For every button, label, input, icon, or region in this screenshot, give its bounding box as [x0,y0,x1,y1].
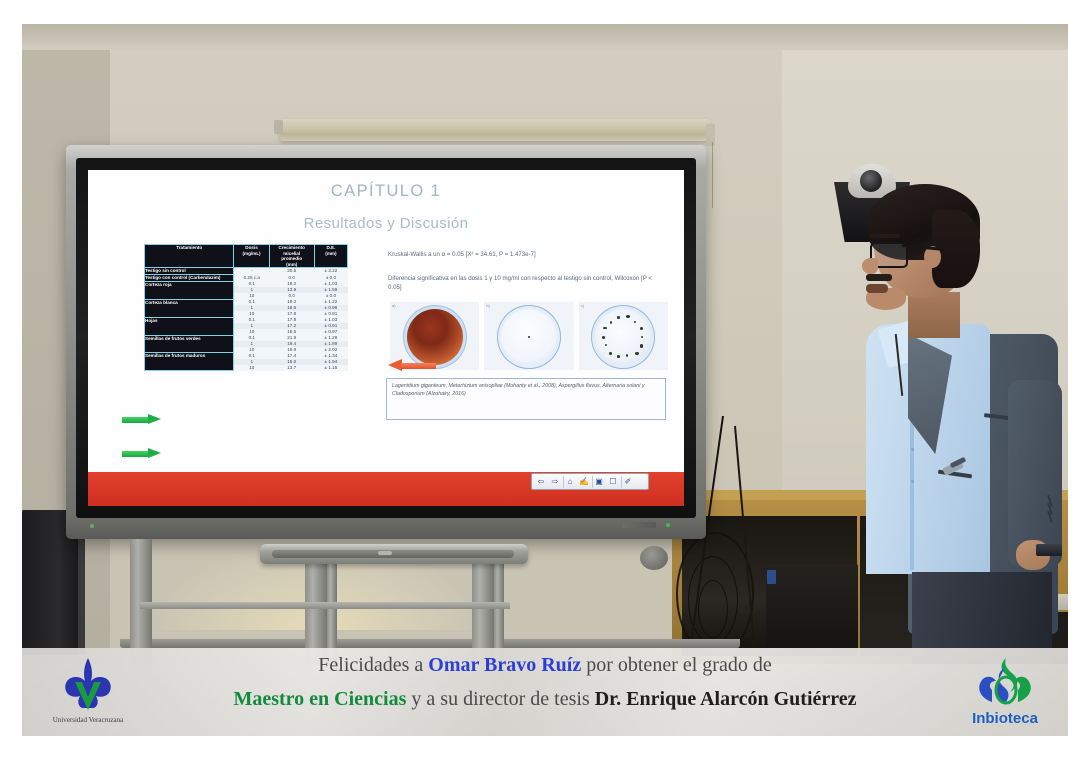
colony-speck [635,352,639,354]
rolled-window-blind [280,119,710,141]
petri-dish-image-a [407,309,463,365]
colony-speck [641,336,643,338]
presentation-clicker[interactable] [1036,544,1062,556]
degree-name: Maestro en Ciencias [233,688,406,710]
cell-growth: 0.0 [269,275,314,282]
table-row: Testigo sin control-20.5± 2.22 [145,268,348,275]
presenter-eyebrow [870,234,900,238]
caption-prefix: Felicidades a [318,654,428,676]
prev-arrow-icon[interactable]: ⇦ [535,476,547,488]
cell-treatment: Hojas [145,317,234,335]
colony-speck [626,354,628,357]
slide-title: CAPÍTULO 1 [88,182,684,201]
colony-speck [609,352,613,355]
shirt-button [911,480,914,483]
results-table: Tratamiento Dosis (mg/mL) Crecimiento mi… [144,244,348,371]
pen-tray-slot [272,550,514,558]
caption-middle: y a su director de tesis [406,688,594,710]
presenter [812,184,1068,664]
dish-label-c: c) [581,303,584,308]
note-icon[interactable]: ☐ [607,476,619,488]
arrow-head [148,414,161,424]
display-chin [120,639,740,648]
colony-speck [640,327,643,330]
blind-bracket-left [274,120,283,134]
arrow-head [148,448,161,458]
blind-cord [712,142,713,208]
home-icon[interactable]: ⌂ [563,476,576,488]
cell-treatment: Corteza roja [145,281,234,299]
director-name: Dr. Enrique Alarcón Gutiérrez [595,688,857,710]
presenter-sleeve [1008,380,1062,566]
dish-b-center-dot [528,336,530,338]
dish-label-a: a) [392,303,396,308]
green-arrow-semillas-verdes [122,448,162,459]
colony-speck [617,316,620,318]
table-header-row: Tratamiento Dosis (mg/mL) Crecimiento mi… [145,245,348,268]
petri-dish-b: b) [484,302,573,370]
green-arrow-hojas [122,414,162,425]
table-body: Testigo sin control-20.5± 2.22Testigo co… [145,268,348,371]
event-photo: CAPÍTULO 1 Resultados y Discusión Tratam… [22,24,1068,736]
caption-suffix: por obtener el grado de [581,654,771,676]
cell-dose: - [234,268,269,275]
screenshot-root: CAPÍTULO 1 Resultados y Discusión Tratam… [0,0,1090,760]
cell-sd: ± 2.22 [314,268,347,275]
arrow-shaft [122,451,150,457]
vga-connector [767,570,776,584]
cell-dose: 0.25 c.a [234,275,269,282]
th-de: D.E. (mm) [314,245,347,268]
caption-line-2: Maestro en Ciencias y a su director de t… [22,688,1068,711]
cell-treatment: Semillas de frutos verdes [145,335,234,353]
stat-wilcoxon: Diferencia significativa en las dosis 1 … [388,274,658,293]
table-head: Tratamiento Dosis (mg/mL) Crecimiento mi… [145,245,348,268]
uv-logo-icon [34,656,142,714]
cell-sd: ± 0.0 [314,275,347,282]
cell-sd: ± 1.15 [314,365,347,371]
cell-treatment: Semillas de frutos maduros [145,353,234,371]
blind-bracket-right [706,124,715,146]
arrow-head [388,359,402,371]
display-screen[interactable]: CAPÍTULO 1 Resultados y Discusión Tratam… [88,170,684,506]
graduate-name: Omar Bravo Ruíz [428,654,581,676]
pen-icon[interactable]: ✍ [578,476,590,488]
cable-wall-plate [640,546,668,570]
th-tratamiento: Tratamiento [145,245,234,268]
colony-speck [605,344,607,346]
stand-cross-rail [140,602,510,609]
presentation-toolbar[interactable]: ⇦ ⇨ ⌂ ✍ ▣ ☐ ✐ [531,473,649,490]
presentation-slide: CAPÍTULO 1 Resultados y Discusión Tratam… [88,170,684,506]
caption-bar: Felicidades a Omar Bravo Ruíz por obtene… [22,648,1068,736]
display-brand-mark [622,522,656,528]
colony-speck [617,355,620,357]
orange-arrow-left-icon [388,359,436,372]
next-arrow-icon[interactable]: ⇨ [549,476,561,488]
shirt-button [911,448,914,451]
citation-text: Lagenidium giganteum, Metarhizium anisop… [392,383,660,398]
inbioteca-logo-text: Inbioteca [950,710,1060,727]
petri-dish-c: c) [579,302,668,370]
petri-dish-image-b [501,309,557,365]
uv-logo-caption: Universidad Veracruzana [34,716,142,724]
highlighter-icon[interactable]: ✐ [621,476,634,488]
colony-speck [610,321,612,324]
colony-speck [626,315,630,318]
cell-dose: 10 [234,365,269,371]
cell-treatment: Testigo sin control [145,268,234,275]
stat-kruskal-wallis: Kruskal-Wallis a un α = 0.05 [X² = 34.61… [388,250,670,259]
colony-speck [603,327,607,329]
arrow-shaft [401,363,436,369]
petri-dish-image-c [595,309,651,365]
presenter-neck [908,292,960,338]
dish-label-b: b) [486,303,490,308]
slide-subtitle: Resultados y Discusión [88,215,684,232]
inbioteca-logo: Inbioteca [950,654,1060,732]
cell-growth: 13.7 [269,365,314,371]
power-led-icon [666,523,670,527]
universidad-veracruzana-logo: Universidad Veracruzana [34,656,142,730]
colony-speck [602,336,605,339]
screen-icon[interactable]: ▣ [592,476,605,488]
table-row: Testigo con control (Carbendazim)0.25 c.… [145,275,348,282]
pen-tray-marker [378,551,392,555]
presenter-mouth [866,284,888,293]
caption-line-1: Felicidades a Omar Bravo Ruíz por obtene… [22,654,1068,677]
citation-box: Lagenidium giganteum, Metarhizium anisop… [386,378,666,420]
inbioteca-logo-icon [950,654,1060,710]
presenter-nose [862,258,878,274]
presenter-moustache [866,274,892,281]
colony-speck [640,344,643,347]
cell-growth: 20.5 [269,268,314,275]
ceiling-shadow [22,24,1068,50]
colony-speck [634,321,636,323]
th-dosis: Dosis (mg/mL) [234,245,269,268]
arrow-shaft [122,417,150,423]
status-led-icon [90,524,94,528]
th-crecimiento: Crecimiento micelial promedio (mm) [269,245,314,268]
cable-coil-3 [698,580,728,638]
cell-treatment: Testigo con control (Carbendazim) [145,275,234,282]
cell-treatment: Corteza blanca [145,299,234,317]
